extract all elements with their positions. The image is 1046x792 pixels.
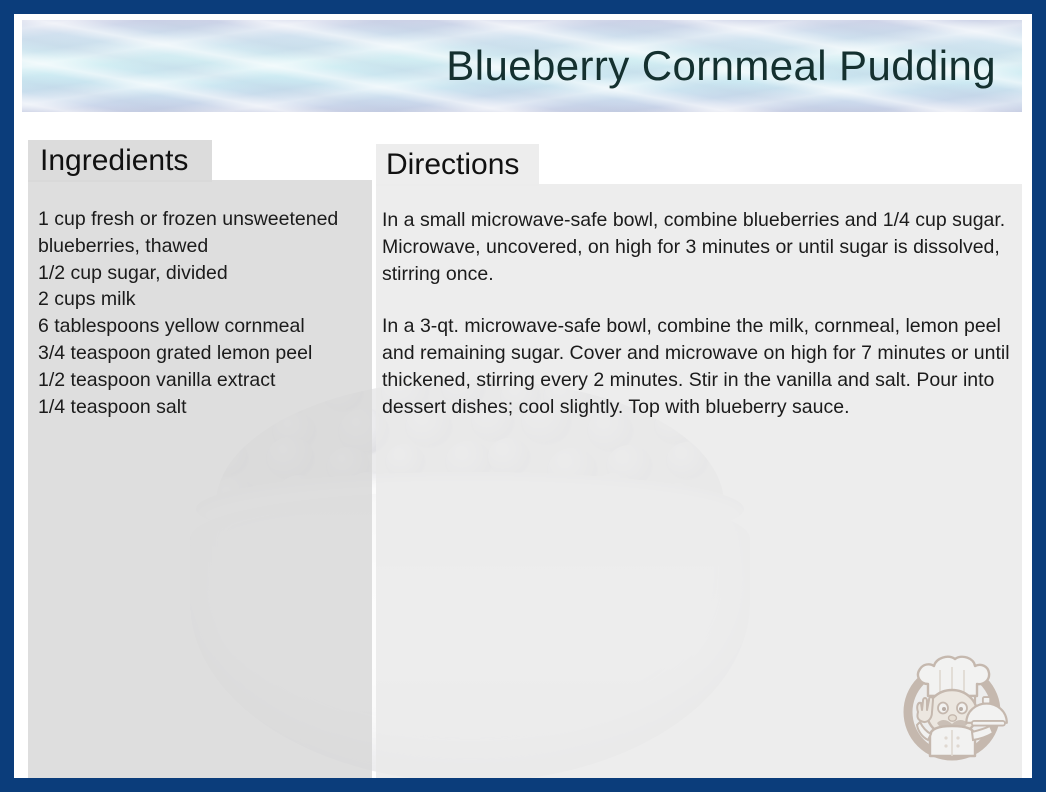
chef-logo <box>890 640 1014 764</box>
ingredient-item: 3/4 teaspoon grated lemon peel <box>38 340 368 367</box>
ingredient-item: 6 tablespoons yellow cornmeal <box>38 313 368 340</box>
ingredient-item: 1/2 teaspoon vanilla extract <box>38 367 368 394</box>
directions-header: Directions <box>376 144 539 186</box>
ingredient-item: 1 cup fresh or frozen unsweetened bluebe… <box>38 206 368 260</box>
ingredients-list: 1 cup fresh or frozen unsweetened bluebe… <box>38 206 368 420</box>
direction-step: In a 3-qt. microwave-safe bowl, combine … <box>382 313 1030 420</box>
directions-steps: In a small microwave-safe bowl, combine … <box>382 207 1030 421</box>
directions-heading-label: Directions <box>386 150 519 180</box>
ingredients-heading-label: Ingredients <box>40 146 188 176</box>
recipe-card: Blueberry Cornmeal Pudding Ingredients D… <box>0 0 1046 792</box>
ingredient-item: 1/2 cup sugar, divided <box>38 260 368 287</box>
page-title: Blueberry Cornmeal Pudding <box>446 45 996 87</box>
ingredient-item: 1/4 teaspoon salt <box>38 394 368 421</box>
direction-step: In a small microwave-safe bowl, combine … <box>382 207 1030 287</box>
ingredient-item: 2 cups milk <box>38 286 368 313</box>
title-banner: Blueberry Cornmeal Pudding <box>22 20 1022 112</box>
ingredients-header: Ingredients <box>28 140 212 182</box>
